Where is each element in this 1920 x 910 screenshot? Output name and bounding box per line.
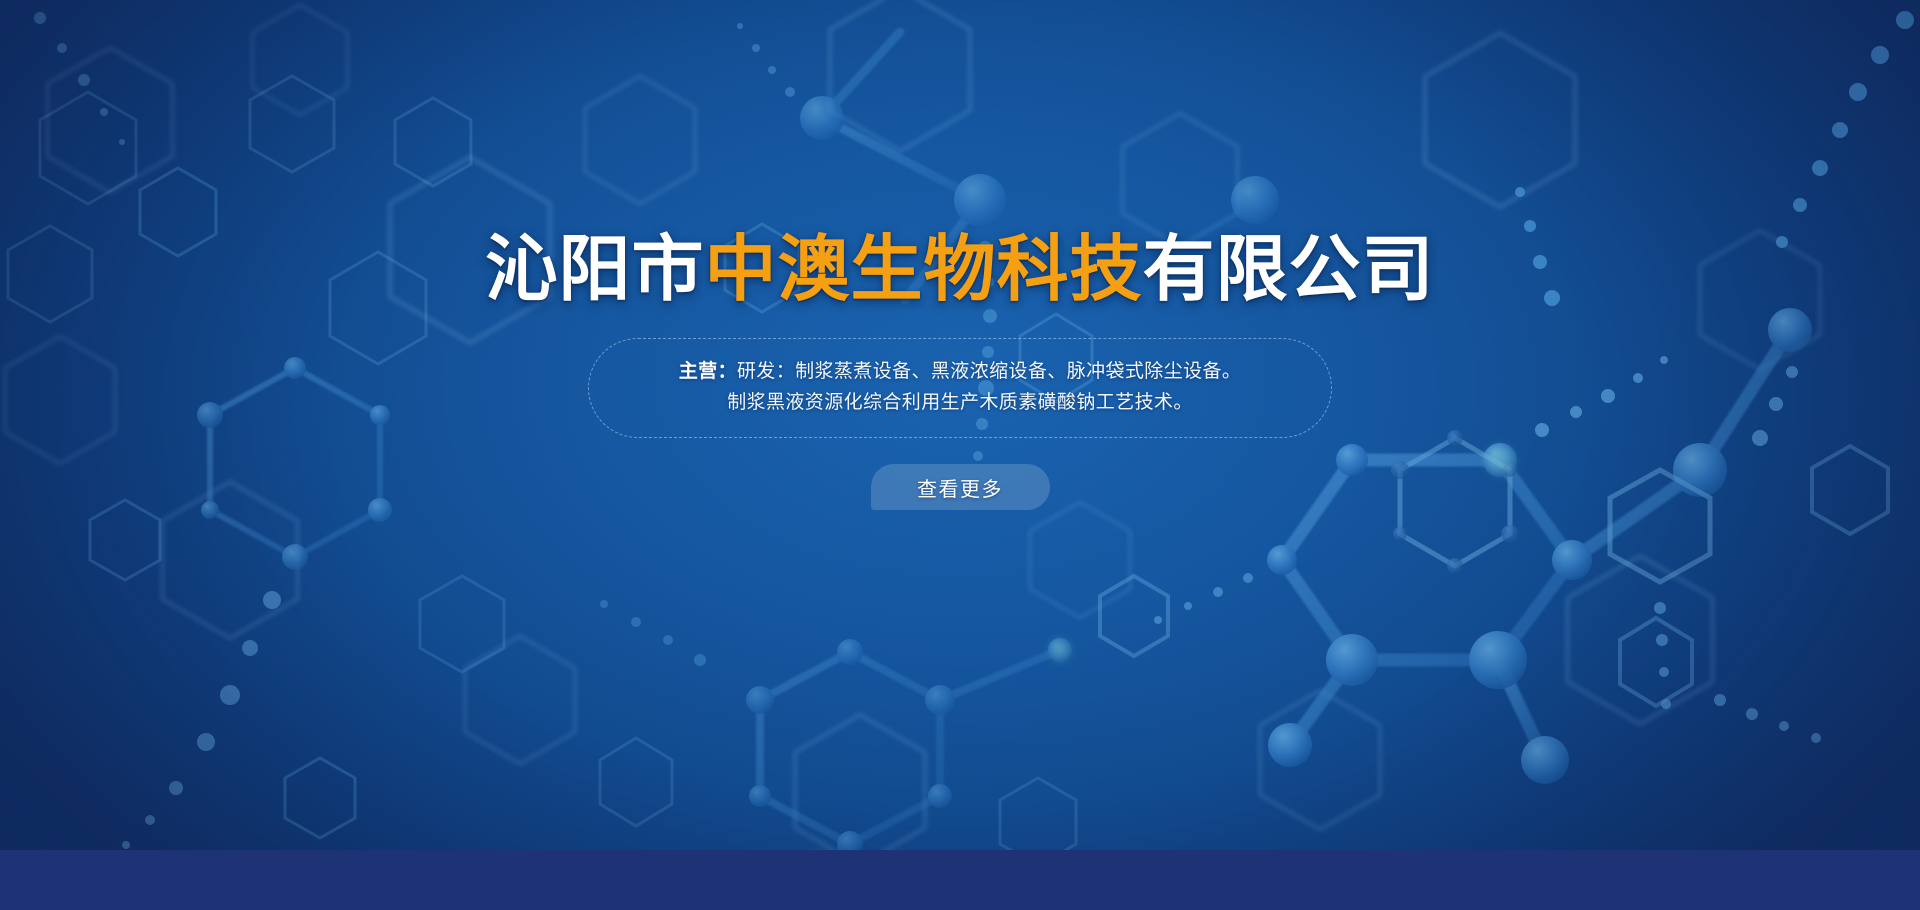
hero-banner: 沁阳市中澳生物科技有限公司 主营：研发：制浆蒸煮设备、黑液浓缩设备、脉冲袋式除尘… [0,0,1920,910]
view-more-button[interactable]: 查看更多 [871,464,1050,510]
business-scope-label: 主营： [679,360,737,382]
title-suffix: 有限公司 [1143,227,1435,311]
title-accent: 中澳生物科技 [704,227,1142,311]
bottom-bar [0,850,1920,910]
business-scope-text-1: 研发：制浆蒸煮设备、黑液浓缩设备、脉冲袋式除尘设备。 [737,360,1241,382]
hero-content: 沁阳市中澳生物科技有限公司 主营：研发：制浆蒸煮设备、黑液浓缩设备、脉冲袋式除尘… [0,0,1920,910]
business-scope-box: 主营：研发：制浆蒸煮设备、黑液浓缩设备、脉冲袋式除尘设备。 制浆黑液资源化综合利… [588,338,1332,438]
business-scope-line-2: 制浆黑液资源化综合利用生产木质素磺酸钠工艺技术。 [619,387,1301,418]
business-scope-line-1: 主营：研发：制浆蒸煮设备、黑液浓缩设备、脉冲袋式除尘设备。 [619,356,1301,387]
page-title: 沁阳市中澳生物科技有限公司 [485,233,1434,305]
title-prefix: 沁阳市 [485,227,704,311]
